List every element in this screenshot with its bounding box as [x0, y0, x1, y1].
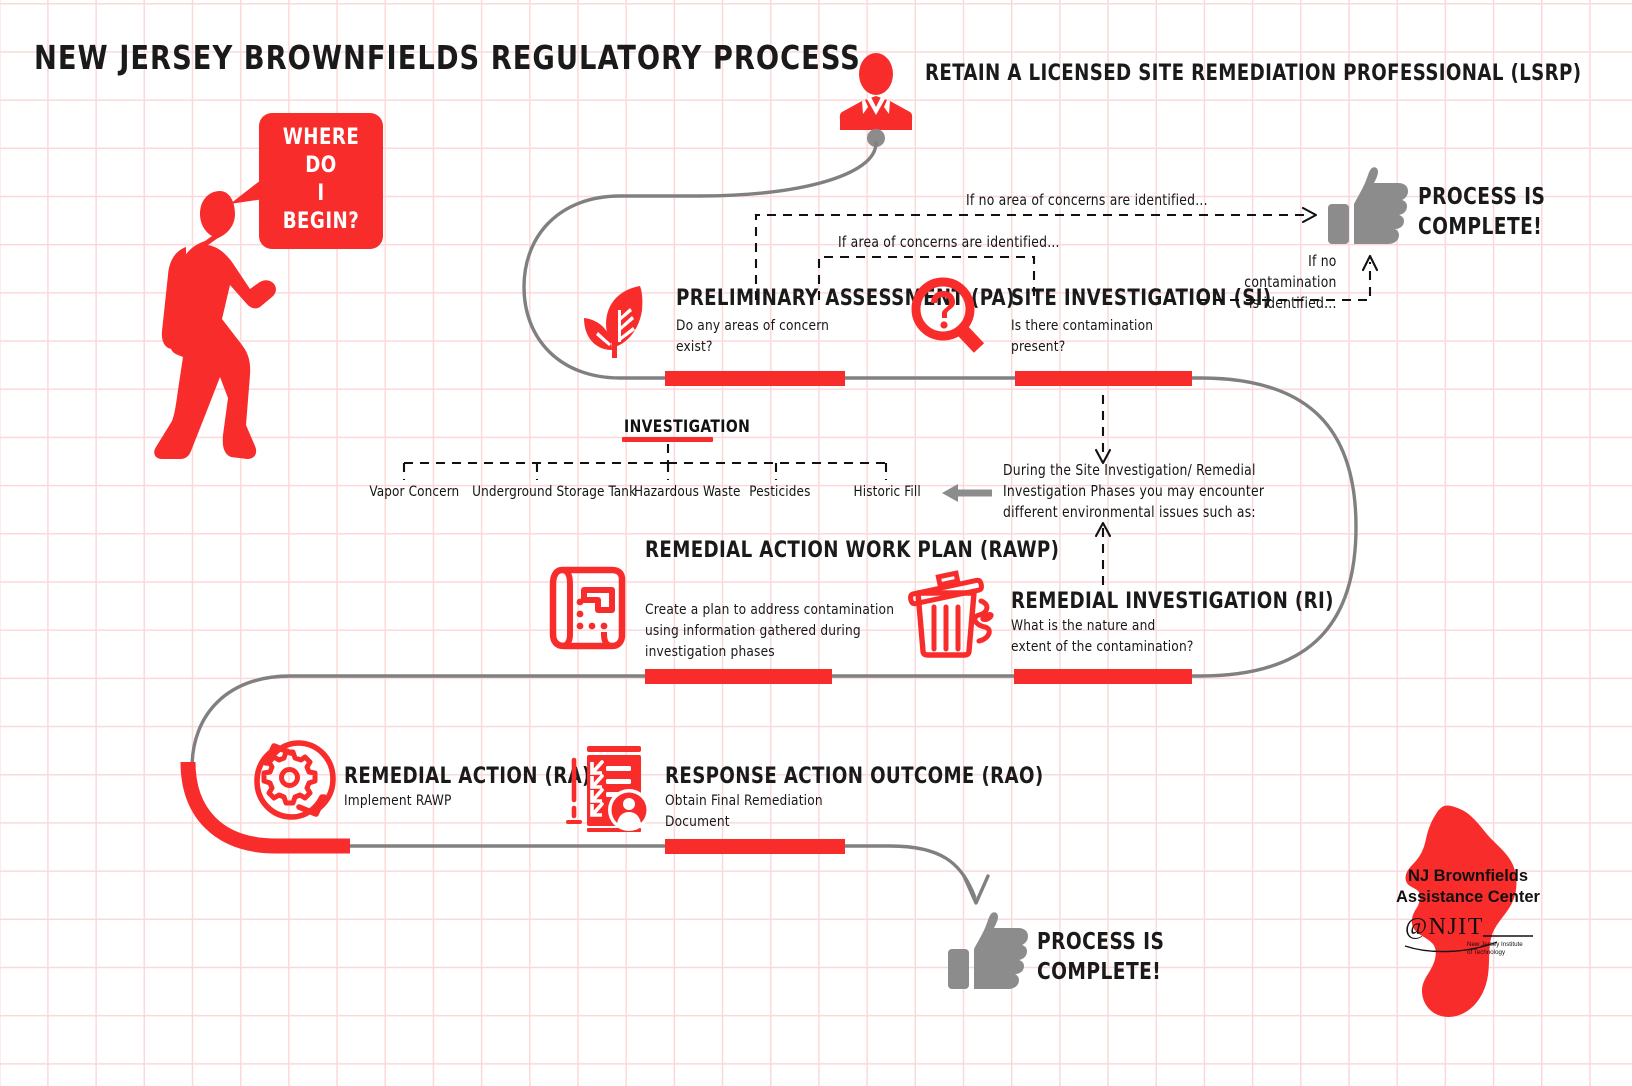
stage-question-ra: Implement RAWP: [344, 790, 452, 811]
outcome-label-top: PROCESS IS COMPLETE!: [1418, 182, 1545, 242]
svg-text:of Technology: of Technology: [1467, 949, 1506, 956]
checklist-person-icon: [565, 742, 651, 832]
stage-question-rawp: Create a plan to address contamination u…: [645, 599, 894, 662]
annotation-no-contamination: If no contamination is identified...: [1212, 251, 1337, 314]
investigation-underline: [622, 437, 713, 442]
infographic-canvas: NEW JERSEY BROWNFIELDS REGULATORY PROCES…: [0, 0, 1632, 1086]
investigation-item-pesticides: Pesticides: [749, 484, 810, 500]
thumbs-up-icon: [948, 913, 1032, 995]
investigation-item-underground-storage-tank: Underground Storage Tank: [472, 484, 636, 500]
investigation-item-hazardous-waste: Hazardous Waste: [634, 484, 741, 500]
njit-logo: @NJIT New Jersey Institute of Technology: [1405, 912, 1535, 958]
stage-title-rao: RESPONSE ACTION OUTCOME (RAO): [665, 763, 1044, 790]
svg-text:New Jersey Institute: New Jersey Institute: [1467, 941, 1523, 948]
stage-title-ri: REMEDIAL INVESTIGATION (RI): [1011, 588, 1334, 615]
annotation-area-of-concerns: If area of concerns are identified...: [838, 232, 1060, 253]
thumbs-up-icon: [1328, 168, 1412, 250]
logo-org-name: NJ Brownfields Assistance Center: [1378, 866, 1558, 908]
investigation-heading: INVESTIGATION: [624, 417, 750, 436]
stage-question-ri: What is the nature and extent of the con…: [1011, 615, 1194, 657]
trash-waste-icon: [909, 565, 1001, 657]
svg-text:@NJIT: @NJIT: [1405, 914, 1484, 940]
outcome-label-bottom: PROCESS IS COMPLETE!: [1037, 927, 1164, 987]
stage-title-ra: REMEDIAL ACTION (RA): [344, 763, 591, 790]
gear-cycle-icon: [250, 735, 340, 825]
stage-title-rawp: REMEDIAL ACTION WORK PLAN (RAWP): [645, 537, 1059, 564]
investigation-item-historic-fill: Historic Fill: [854, 484, 921, 500]
investigation-item-vapor-concern: Vapor Concern: [369, 484, 459, 500]
blueprint-plan-icon: [548, 562, 632, 652]
annotation-no-area-of-concerns: If no area of concerns are identified...: [966, 190, 1208, 211]
annotation-encounter-issues: During the Site Investigation/ Remedial …: [1003, 460, 1264, 523]
stage-question-rao: Obtain Final Remediation Document: [665, 790, 823, 832]
